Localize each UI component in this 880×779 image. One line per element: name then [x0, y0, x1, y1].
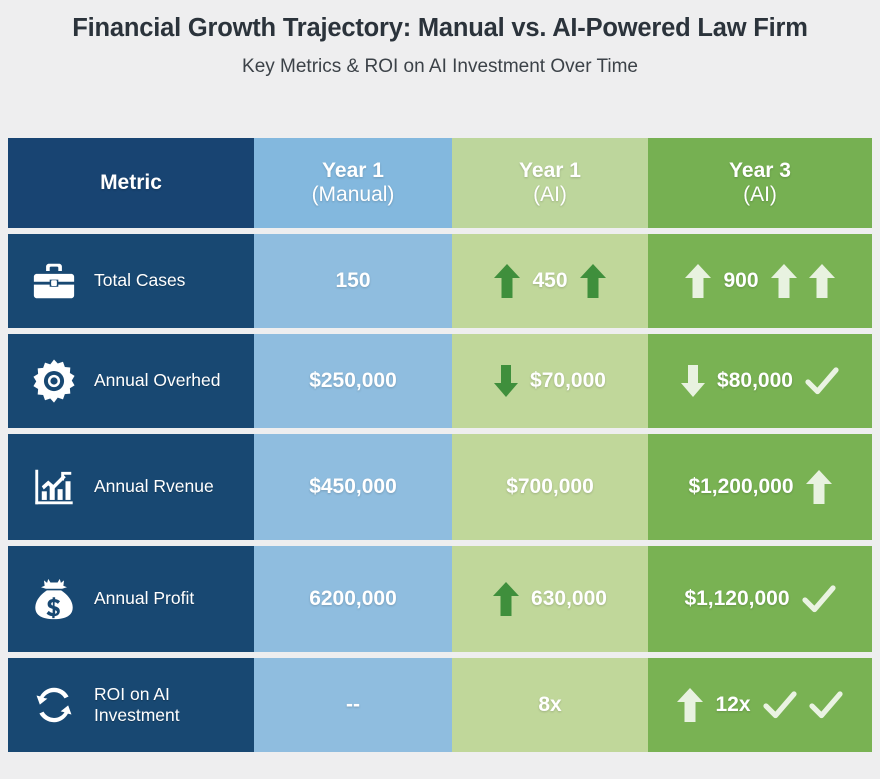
cell-content: 8x	[452, 658, 648, 752]
metric-cell: Annual Rvenue	[8, 434, 254, 540]
table-row: ROI on AI Investment--8x 12x	[8, 658, 872, 752]
cell-value: $1,120,000	[684, 587, 789, 611]
value-cell-year1-manual: $250,000	[254, 334, 452, 428]
metric-cell: Total Cases	[8, 234, 254, 328]
value-cell-year1-manual: 150	[254, 234, 452, 328]
cell-value: 12x	[715, 693, 750, 717]
column-header-year1-ai-label: Year 1 (AI)	[519, 159, 581, 206]
cell-content: $700,000	[452, 434, 648, 540]
metric-label: Total Cases	[94, 270, 185, 291]
cell-content: --	[254, 658, 452, 752]
table-row: Annual Rvenue$450,000$700,000$1,200,000	[8, 434, 872, 540]
check-pale-icon	[805, 366, 839, 396]
column-header-year1-manual-main: Year 1	[322, 159, 384, 182]
cell-value: 900	[723, 269, 758, 293]
page-title: Financial Growth Trajectory: Manual vs. …	[72, 14, 807, 43]
value-cell-year1-ai: $70,000	[452, 334, 648, 428]
table-row: Annual Profit6200,000 630,000$1,120,000	[8, 546, 872, 652]
metric-content: ROI on AI Investment	[8, 658, 254, 752]
value-cell-year1-ai: 8x	[452, 658, 648, 752]
table-row: Annual Overhed$250,000 $70,000 $80,000	[8, 334, 872, 428]
cell-value: 630,000	[531, 587, 607, 611]
cell-content: 450	[452, 234, 648, 328]
value-cell-year1-manual: --	[254, 658, 452, 752]
cell-content: 6200,000	[254, 546, 452, 652]
cell-content: $250,000	[254, 334, 452, 428]
arrow-up-dark-icon	[494, 264, 520, 298]
metric-cell: ROI on AI Investment	[8, 658, 254, 752]
briefcase-icon	[30, 257, 78, 305]
arrow-down-dark-icon	[494, 365, 518, 397]
page-subtitle: Key Metrics & ROI on AI Investment Over …	[242, 56, 638, 78]
cell-content: 12x	[648, 658, 872, 752]
cell-value: 450	[532, 269, 567, 293]
cell-content: $70,000	[452, 334, 648, 428]
arrow-up-pale-icon	[809, 264, 835, 298]
cell-content: $1,120,000	[648, 546, 872, 652]
arrow-up-pale-icon	[806, 470, 832, 504]
bar-chart-growth-icon	[30, 463, 78, 511]
value-cell-year1-ai: 630,000	[452, 546, 648, 652]
check-pale-icon	[763, 690, 797, 720]
column-header-year1-manual-label: Year 1 (Manual)	[312, 159, 395, 206]
cell-value: $1,200,000	[688, 475, 793, 499]
cell-value: $250,000	[309, 369, 397, 393]
column-header-year3-ai-sub: (AI)	[729, 183, 791, 207]
column-header-metric: Metric	[8, 138, 254, 228]
value-cell-year1-manual: 6200,000	[254, 546, 452, 652]
check-pale-icon	[802, 584, 836, 614]
arrow-up-dark-icon	[580, 264, 606, 298]
value-cell-year1-ai: $700,000	[452, 434, 648, 540]
value-cell-year3-ai: 900	[648, 234, 872, 328]
cell-content: 150	[254, 234, 452, 328]
cell-value: --	[346, 693, 360, 717]
column-header-year1-ai-sub: (AI)	[519, 183, 581, 207]
cell-content: 900	[648, 234, 872, 328]
table-row: Total Cases150 450 900	[8, 234, 872, 328]
column-header-year3-ai-main: Year 3	[729, 159, 791, 182]
metrics-table: Metric Year 1 (Manual) Year 1 (AI) Year …	[8, 138, 872, 752]
metric-cell: Annual Profit	[8, 546, 254, 652]
money-bag-icon	[30, 575, 78, 623]
arrow-up-dark-icon	[493, 582, 519, 616]
metric-content: Annual Profit	[8, 546, 254, 652]
column-header-year1-manual-sub: (Manual)	[312, 183, 395, 207]
value-cell-year3-ai: 12x	[648, 658, 872, 752]
metric-label: Annual Profit	[94, 588, 194, 609]
column-header-year3-ai: Year 3 (AI)	[648, 138, 872, 228]
infographic-page: Financial Growth Trajectory: Manual vs. …	[0, 0, 880, 779]
metric-label: Annual Rvenue	[94, 476, 214, 497]
value-cell-year3-ai: $80,000	[648, 334, 872, 428]
column-header-metric-label: Metric	[100, 171, 162, 195]
metric-cell: Annual Overhed	[8, 334, 254, 428]
arrow-up-pale-icon	[771, 264, 797, 298]
metric-label: ROI on AI Investment	[94, 684, 254, 727]
cell-value: $70,000	[530, 369, 606, 393]
metric-label: Annual Overhed	[94, 370, 220, 391]
cell-content: $1,200,000	[648, 434, 872, 540]
metric-content: Annual Rvenue	[8, 434, 254, 540]
column-header-year1-ai: Year 1 (AI)	[452, 138, 648, 228]
arrow-up-pale-icon	[685, 264, 711, 298]
value-cell-year1-manual: $450,000	[254, 434, 452, 540]
column-header-year3-ai-label: Year 3 (AI)	[729, 159, 791, 206]
cell-value: 8x	[538, 693, 561, 717]
cell-value: $450,000	[309, 475, 397, 499]
value-cell-year3-ai: $1,200,000	[648, 434, 872, 540]
check-pale-icon	[809, 690, 843, 720]
table-header-row: Metric Year 1 (Manual) Year 1 (AI) Year …	[8, 138, 872, 228]
cell-value: $80,000	[717, 369, 793, 393]
refresh-cycle-icon	[30, 681, 78, 729]
metric-content: Annual Overhed	[8, 334, 254, 428]
value-cell-year1-ai: 450	[452, 234, 648, 328]
heading-block: Financial Growth Trajectory: Manual vs. …	[0, 0, 880, 130]
cell-value: 150	[335, 269, 370, 293]
arrow-up-pale-icon	[677, 688, 703, 722]
value-cell-year3-ai: $1,120,000	[648, 546, 872, 652]
cell-content: $450,000	[254, 434, 452, 540]
column-header-year1-manual: Year 1 (Manual)	[254, 138, 452, 228]
metric-content: Total Cases	[8, 234, 254, 328]
cell-content: 630,000	[452, 546, 648, 652]
cell-value: $700,000	[506, 475, 594, 499]
cell-content: $80,000	[648, 334, 872, 428]
cell-value: 6200,000	[309, 587, 397, 611]
arrow-down-pale-icon	[681, 365, 705, 397]
table-body: Total Cases150 450 900 Annual Overhed$25…	[8, 234, 872, 752]
column-header-year1-ai-main: Year 1	[519, 159, 581, 182]
gear-icon	[30, 357, 78, 405]
